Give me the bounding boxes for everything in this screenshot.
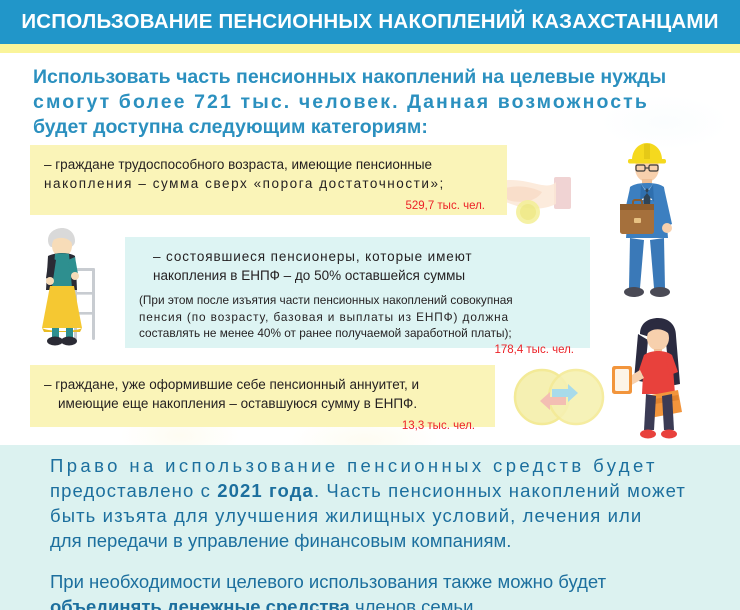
footer-para1-line-3: быть изъята для улучшения жилищных услов… bbox=[50, 503, 700, 528]
footer-para1-line-4: для передачи в управление финансовым ком… bbox=[50, 528, 700, 553]
intro-line-3: будет доступна следующим категориям: bbox=[33, 115, 713, 140]
category-box-3: – граждане, уже оформившие себе пенсионн… bbox=[30, 365, 495, 427]
category-2-line-1: – состоявшиеся пенсионеры, которые имеют bbox=[139, 247, 576, 266]
footer-year-bold: 2021 года bbox=[217, 480, 314, 501]
category-2-note-line-3: составлять не менее 40% от ранее получае… bbox=[139, 325, 576, 342]
category-3-value: 13,3 тыс. чел. bbox=[44, 420, 481, 432]
footer-content: Право на использование пенсионных средст… bbox=[50, 453, 700, 610]
category-2-value: 178,4 тыс. чел. bbox=[139, 344, 576, 356]
elderly-woman-illustration bbox=[22, 228, 117, 348]
girl-with-tablet-illustration bbox=[608, 318, 703, 443]
page-title: ИСПОЛЬЗОВАНИЕ ПЕНСИОННЫХ НАКОПЛЕНИЙ КАЗА… bbox=[21, 10, 718, 34]
category-1-line-1: – граждане трудоспособного возраста, име… bbox=[44, 155, 493, 174]
category-3-line-2: имеющие еще накопления – оставшуюся сумм… bbox=[44, 394, 481, 413]
category-1-value: 529,7 тыс. чел. bbox=[44, 200, 493, 212]
footer-merge-bold: объединять денежные средства bbox=[50, 596, 350, 610]
intro-line-1: Использовать часть пенсионных накоплений… bbox=[33, 65, 713, 90]
exchange-circles-illustration bbox=[508, 365, 613, 430]
footer-para2-line-2: объединять денежные средства членов семь… bbox=[50, 594, 700, 610]
intro-paragraph: Использовать часть пенсионных накоплений… bbox=[33, 65, 713, 140]
footer-para1-line-2: предоставлено с 2021 года. Часть пенсион… bbox=[50, 478, 700, 503]
footer-para1-line-1: Право на использование пенсионных средст… bbox=[50, 453, 700, 478]
footer-para1-line-2-pre: предоставлено с bbox=[50, 480, 217, 501]
category-2-line-2: накопления в ЕНПФ – до 50% оставшейся су… bbox=[139, 266, 576, 285]
category-2-note-line-1: (При этом после изъятия части пенсионных… bbox=[139, 292, 576, 309]
header-accent-strip bbox=[0, 44, 740, 53]
footer-section: Право на использование пенсионных средст… bbox=[0, 445, 740, 610]
category-2-note-line-2: пенсия (по возрасту, базовая и выплаты и… bbox=[139, 309, 576, 326]
category-1-line-2: накопления – сумма сверх «порога достато… bbox=[44, 174, 493, 193]
category-box-2: – состоявшиеся пенсионеры, которые имеют… bbox=[125, 237, 590, 348]
footer-para2: При необходимости целевого использования… bbox=[50, 569, 700, 610]
businessman-illustration bbox=[600, 140, 695, 305]
category-box-1: – граждане трудоспособного возраста, име… bbox=[30, 145, 507, 215]
header-bar: ИСПОЛЬЗОВАНИЕ ПЕНСИОННЫХ НАКОПЛЕНИЙ КАЗА… bbox=[0, 0, 740, 44]
category-3-line-1: – граждане, уже оформившие себе пенсионн… bbox=[44, 375, 481, 394]
footer-para1-line-2-post: . Часть пенсионных накоплений может bbox=[314, 480, 686, 501]
footer-para2-line-1: При необходимости целевого использования… bbox=[50, 569, 700, 594]
footer-para2-line-2-post: членов семьи. bbox=[350, 596, 479, 610]
intro-line-2: смогут более 721 тыс. человек. Данная во… bbox=[33, 90, 713, 115]
infographic-root: ИСПОЛЬЗОВАНИЕ ПЕНСИОННЫХ НАКОПЛЕНИЙ КАЗА… bbox=[0, 0, 740, 610]
